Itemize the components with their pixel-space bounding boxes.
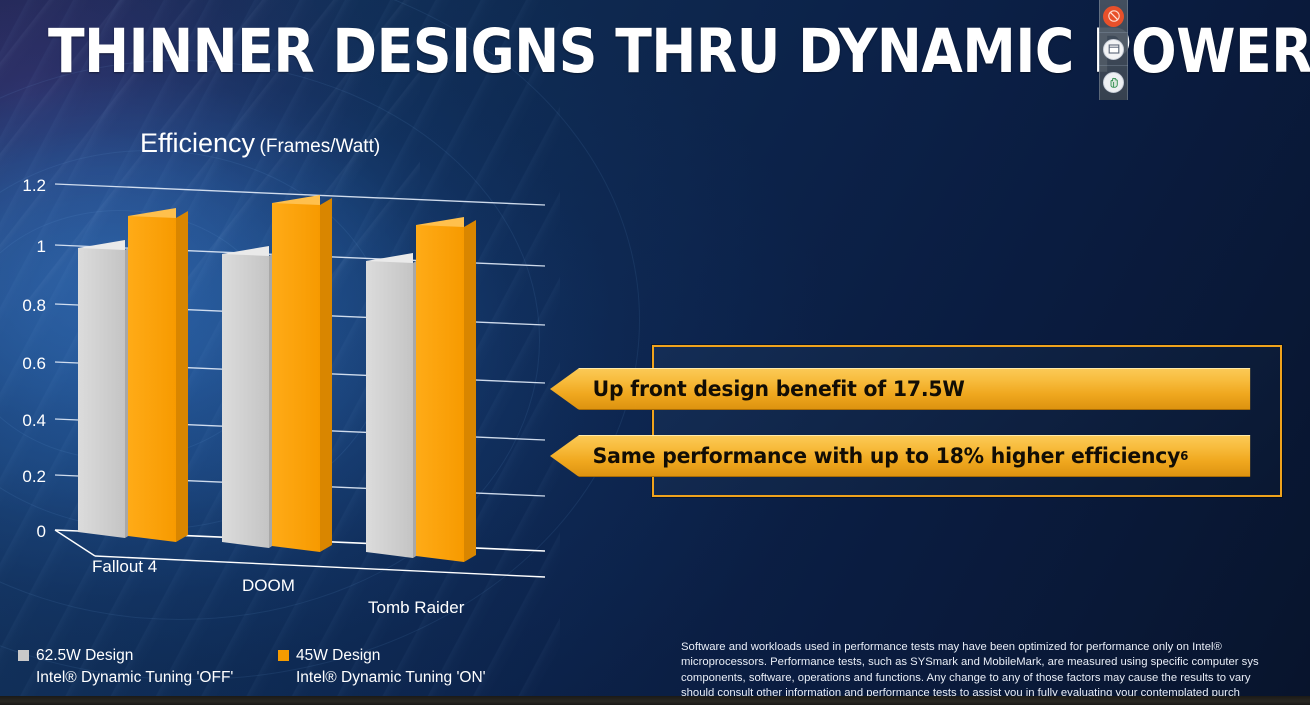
window-button[interactable] xyxy=(1099,33,1128,66)
legend-swatch-orange xyxy=(278,650,289,661)
bar-fallout4-62w xyxy=(78,240,136,538)
bar-doom-45w xyxy=(272,195,332,552)
callout-banner-efficiency-text: Same performance with up to 18% higher e… xyxy=(593,444,1181,468)
pan-hand-button[interactable] xyxy=(1099,66,1128,99)
bar-tombraider-45w xyxy=(416,217,476,562)
category-label-fallout4: Fallout 4 xyxy=(92,557,157,577)
chart-legend: 62.5W Design Intel® Dynamic Tuning 'OFF'… xyxy=(18,645,558,689)
plot-area xyxy=(0,120,545,630)
bar-fallout4-45w xyxy=(128,208,188,542)
hand-icon xyxy=(1103,72,1124,93)
legend-label-62w: 62.5W Design Intel® Dynamic Tuning 'OFF' xyxy=(36,645,233,689)
legend-line-2: Intel® Dynamic Tuning 'ON' xyxy=(296,669,486,686)
legal-disclaimer: Software and workloads used in performan… xyxy=(681,640,1310,702)
legend-label-45w: 45W Design Intel® Dynamic Tuning 'ON' xyxy=(296,645,486,689)
slide-title: THINNER DESIGNS THRU DYNAMIC POWER SHARI… xyxy=(48,16,1086,88)
callout-banner-efficiency: Same performance with up to 18% higher e… xyxy=(550,435,1250,477)
legend-swatch-gray xyxy=(18,650,29,661)
slide-canvas: THINNER DESIGNS THRU DYNAMIC POWER SHARI… xyxy=(0,0,1310,705)
legend-item-62w: 62.5W Design Intel® Dynamic Tuning 'OFF' xyxy=(18,645,278,689)
disclaimer-line: microprocessors. Performance tests, such… xyxy=(681,655,1310,670)
disclaimer-line: Software and workloads used in performan… xyxy=(681,640,1310,655)
legend-item-45w: 45W Design Intel® Dynamic Tuning 'ON' xyxy=(278,645,486,689)
disclaimer-line: components, software, operations and fun… xyxy=(681,671,1310,686)
window-icon xyxy=(1103,39,1124,60)
callout-footnote-marker: 6 xyxy=(1180,449,1188,463)
category-label-doom: DOOM xyxy=(242,576,295,596)
legend-line-1: 62.5W Design xyxy=(36,647,133,664)
bottom-bar xyxy=(0,696,1310,705)
legend-line-1: 45W Design xyxy=(296,647,380,664)
screen-recorder-toolbar[interactable] xyxy=(1099,0,1128,100)
efficiency-bar-chart: Efficiency (Frames/Watt) 1.2 1 0.8 0.6 0… xyxy=(0,120,545,630)
record-stop-button[interactable] xyxy=(1099,0,1128,33)
callout-banner-benefit: Up front design benefit of 17.5W xyxy=(550,368,1250,410)
legend-line-2: Intel® Dynamic Tuning 'OFF' xyxy=(36,669,233,686)
bar-doom-62w xyxy=(222,246,280,548)
callout-banner-benefit-text: Up front design benefit of 17.5W xyxy=(593,377,965,401)
category-label-tombraider: Tomb Raider xyxy=(368,598,464,618)
bar-tombraider-62w xyxy=(366,253,424,558)
record-stop-icon xyxy=(1103,6,1124,27)
